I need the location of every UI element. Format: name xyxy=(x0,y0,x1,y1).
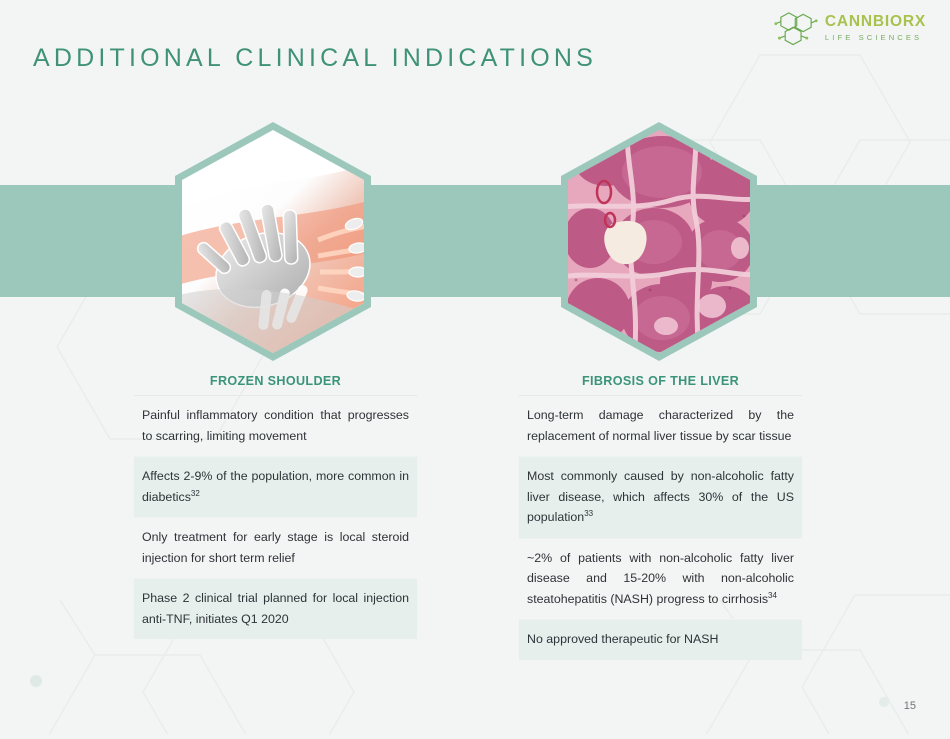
company-logo: CANNBIORX LIFE SCIENCES xyxy=(774,10,926,46)
fact-row: Affects 2-9% of the population, more com… xyxy=(134,457,417,518)
column-heading: FROZEN SHOULDER xyxy=(134,374,417,396)
logo-tagline: LIFE SCIENCES xyxy=(825,34,926,42)
fact-row: Only treatment for early stage is local … xyxy=(134,518,417,579)
column-fibrosis-liver: FIBROSIS OF THE LIVER Long-term damage c… xyxy=(519,374,802,660)
fact-list: Painful inflammatory condition that prog… xyxy=(134,396,417,639)
fact-row: Long-term damage characterized by the re… xyxy=(519,396,802,457)
liver-histology-image xyxy=(554,120,764,363)
column-frozen-shoulder: FROZEN SHOULDER Painful inflammatory con… xyxy=(134,374,417,639)
page-title: ADDITIONAL CLINICAL INDICATIONS xyxy=(33,44,597,73)
column-heading: FIBROSIS OF THE LIVER xyxy=(519,374,802,396)
fact-list: Long-term damage characterized by the re… xyxy=(519,396,802,660)
page-number: 15 xyxy=(904,700,916,712)
hexagon-molecule-icon xyxy=(774,10,818,46)
teal-accent-band xyxy=(0,185,950,297)
fact-row: ~2% of patients with non-alcoholic fatty… xyxy=(519,539,802,621)
fact-row: Painful inflammatory condition that prog… xyxy=(134,396,417,457)
fact-row: No approved therapeutic for NASH xyxy=(519,620,802,660)
fact-row: Most commonly caused by non-alcoholic fa… xyxy=(519,457,802,539)
logo-wordmark: CANNBIORX xyxy=(825,14,926,30)
frozen-shoulder-xray-image xyxy=(168,120,378,363)
fact-row: Phase 2 clinical trial planned for local… xyxy=(134,579,417,639)
